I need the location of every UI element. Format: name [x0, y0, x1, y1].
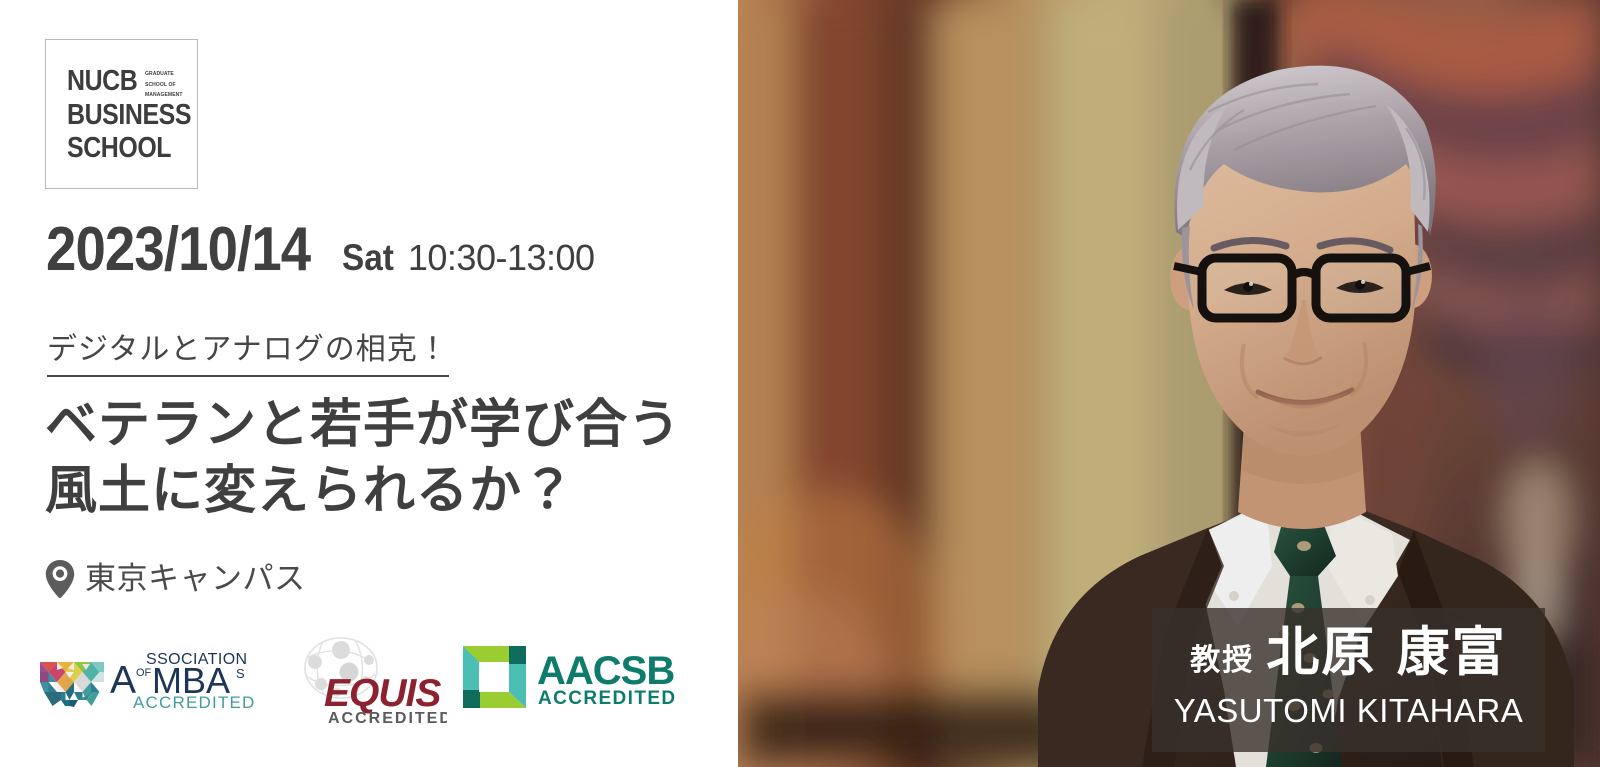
speaker-name-jp: 北原 康富 — [1266, 626, 1506, 680]
event-title-line-2: 風土に変えられるか？ — [45, 458, 735, 524]
event-venue-label: 東京キャンパス — [85, 562, 306, 596]
nucb-logo-top-row: NUCB GRADUATE SCHOOL OF MANAGEMENT — [67, 67, 185, 99]
event-time: 10:30-13:00 — [408, 240, 595, 276]
nucb-logo: NUCB GRADUATE SCHOOL OF MANAGEMENT BUSIN… — [45, 39, 198, 189]
nucb-logo-nucb: NUCB — [67, 67, 137, 95]
event-subtitle: デジタルとアナログの相克！ — [47, 330, 449, 377]
nucb-logo-business: BUSINESS — [67, 99, 168, 132]
speaker-nameplate: 教授 北原 康富 YASUTOMI KITAHARA — [1152, 608, 1545, 752]
svg-text:ACCREDITED: ACCREDITED — [328, 710, 447, 726]
nucb-logo-school: SCHOOL — [67, 132, 168, 165]
nucb-logo-gsm-line3: MANAGEMENT — [145, 88, 183, 99]
speaker-rank: 教授 — [1190, 634, 1254, 688]
nucb-logo-gsm-line2: SCHOOL OF — [145, 78, 183, 89]
svg-text:ACCREDITED: ACCREDITED — [133, 693, 256, 710]
svg-text:S: S — [236, 666, 245, 681]
speaker-name-japanese: 教授 北原 康富 — [1152, 626, 1545, 688]
nucb-logo-gsm-line1: GRADUATE — [145, 67, 183, 78]
aacsb-square-icon — [463, 646, 526, 713]
event-day-of-week: Sat — [342, 239, 394, 276]
info-panel: NUCB GRADUATE SCHOOL OF MANAGEMENT BUSIN… — [0, 0, 738, 767]
event-date: 2023/10/14 — [46, 219, 310, 281]
svg-text:EQUIS: EQUIS — [324, 672, 441, 715]
aacsb-accreditation-logo: AACSB ACCREDITED — [463, 646, 722, 713]
nucb-logo-gsm: GRADUATE SCHOOL OF MANAGEMENT — [149, 67, 187, 99]
equis-accreditation-logo: EQUIS ACCREDITED — [297, 636, 447, 722]
svg-text:AACSB: AACSB — [537, 649, 674, 693]
event-title-line-1: ベテランと若手が学び合う — [45, 392, 735, 458]
accreditation-logos: SSOCIATION A OF MBA S ACCREDITED — [38, 636, 722, 722]
equis-logo-wrap: EQUIS ACCREDITED — [297, 636, 447, 722]
event-datetime: 2023/10/14 Sat 10:30-13:00 — [46, 219, 595, 281]
amba-wordmark: SSOCIATION A OF MBA S ACCREDITED — [110, 648, 275, 710]
aacsb-wordmark: AACSB ACCREDITED — [537, 646, 722, 713]
map-pin-icon — [44, 560, 76, 598]
svg-text:OF: OF — [136, 667, 152, 679]
amba-accreditation-logo: SSOCIATION A OF MBA S ACCREDITED — [38, 646, 275, 713]
nucb-logo-inner: NUCB GRADUATE SCHOOL OF MANAGEMENT BUSIN… — [67, 67, 185, 165]
event-title: ベテランと若手が学び合う 風土に変えられるか？ — [45, 392, 735, 524]
seminar-banner: NUCB GRADUATE SCHOOL OF MANAGEMENT BUSIN… — [0, 0, 1600, 767]
amba-diamond-icon — [38, 646, 106, 713]
event-venue: 東京キャンパス — [44, 560, 306, 598]
speaker-name-english: YASUTOMI KITAHARA — [1152, 692, 1545, 730]
svg-text:ACCREDITED: ACCREDITED — [538, 688, 677, 708]
